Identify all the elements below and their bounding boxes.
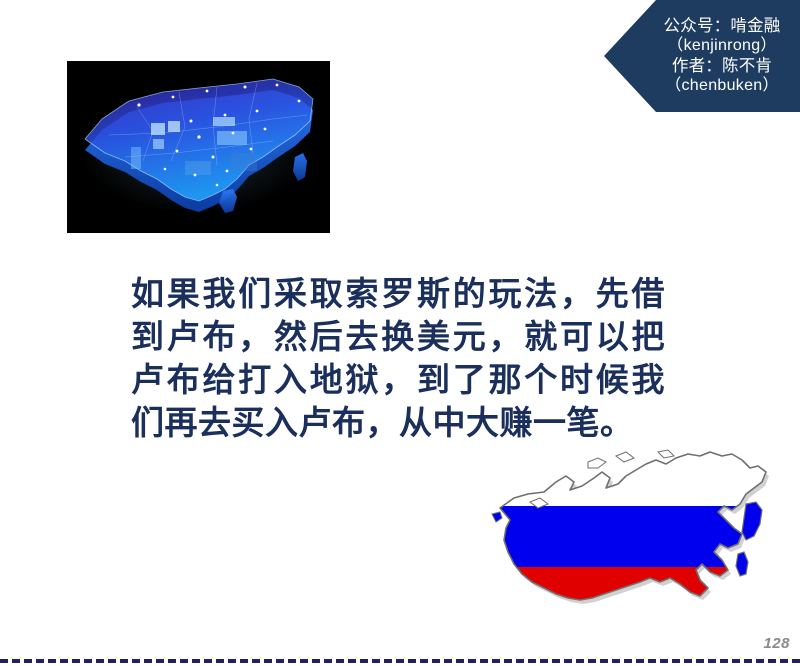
page-number: 128 (763, 635, 790, 652)
banner-line-account-name: 公众号：啃金融 (664, 16, 781, 36)
slide-canvas: 如果我们采取索罗斯的玩法，先借到卢布，然后去换美元，就可以把卢布给打入地狱，到了… (0, 0, 800, 666)
headline-paragraph: 如果我们采取索罗斯的玩法，先借到卢布，然后去换美元，就可以把卢布给打入地狱，到了… (131, 272, 665, 444)
banner-line-author-name: 作者：陈不肯 (672, 56, 772, 76)
author-credit-banner: 公众号：啃金融 （kenjinrong） 作者：陈不肯 （chenbuken） (604, 0, 800, 112)
banner-line-author-id: （chenbuken） (665, 76, 779, 96)
china-map-graphic (67, 61, 330, 233)
russia-flag-map-image (470, 448, 795, 628)
banner-line-account-id: （kenjinrong） (667, 36, 776, 56)
bottom-dashed-rule (0, 659, 800, 663)
russia-map-graphic (470, 448, 795, 628)
china-3d-map-image (67, 61, 330, 233)
